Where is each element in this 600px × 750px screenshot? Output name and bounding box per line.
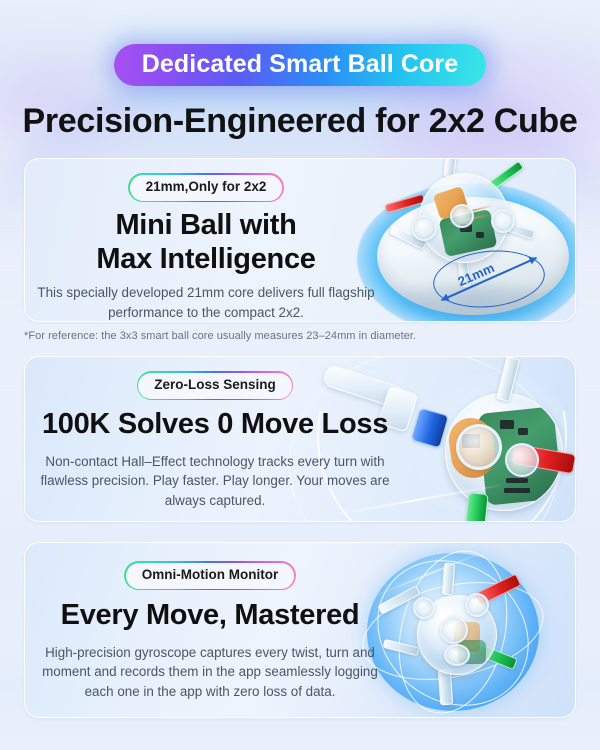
card-1-heading: Mini Ball with Max Intelligence	[33, 209, 379, 276]
pill-host: Zero-Loss Sensing	[138, 373, 292, 399]
card-1-text-block: 21mm,Only for 2x2 Mini Ball with Max Int…	[25, 159, 575, 322]
pill-host: Omni-Motion Monitor	[126, 563, 294, 589]
page-title: Precision-Engineered for 2x2 Cube	[0, 102, 600, 141]
card-2-body: Non-contact Hall–Effect technology track…	[31, 452, 399, 511]
card-3-body: High-precision gyroscope captures every …	[31, 643, 389, 702]
card-2-text-block: Zero-Loss Sensing 100K Solves 0 Move Los…	[25, 357, 575, 510]
feature-card-zero-loss: Zero-Loss Sensing 100K Solves 0 Move Los…	[24, 356, 576, 522]
card-1-body: This specially developed 21mm core deliv…	[33, 283, 379, 322]
card-1-heading-line-2: Max Intelligence	[33, 243, 379, 277]
feature-card-omni-motion: Omni-Motion Monitor Every Move, Mastered…	[24, 542, 576, 718]
feature-card-list: 21mm 21mm,Only for 2x2 Mini Ball with Ma…	[24, 158, 576, 718]
card-3-heading: Every Move, Mastered	[31, 599, 389, 633]
card-2-pill-badge: Zero-Loss Sensing	[138, 373, 292, 399]
feature-card-mini-ball: 21mm 21mm,Only for 2x2 Mini Ball with Ma…	[24, 158, 576, 322]
card-2-heading: 100K Solves 0 Move Loss	[31, 408, 399, 442]
hero-badge: Dedicated Smart Ball Core	[114, 44, 487, 86]
card-1-heading-line-1: Mini Ball with	[33, 209, 379, 243]
pill-host: 21mm,Only for 2x2	[130, 175, 283, 201]
card-3-text-block: Omni-Motion Monitor Every Move, Mastered…	[25, 543, 575, 701]
card-1-pill-badge: 21mm,Only for 2x2	[130, 175, 283, 201]
card-3-pill-badge: Omni-Motion Monitor	[126, 563, 294, 589]
hero-badge-container: Dedicated Smart Ball Core	[0, 44, 600, 86]
footnote-reference-note: *For reference: the 3x3 smart ball core …	[24, 330, 576, 342]
